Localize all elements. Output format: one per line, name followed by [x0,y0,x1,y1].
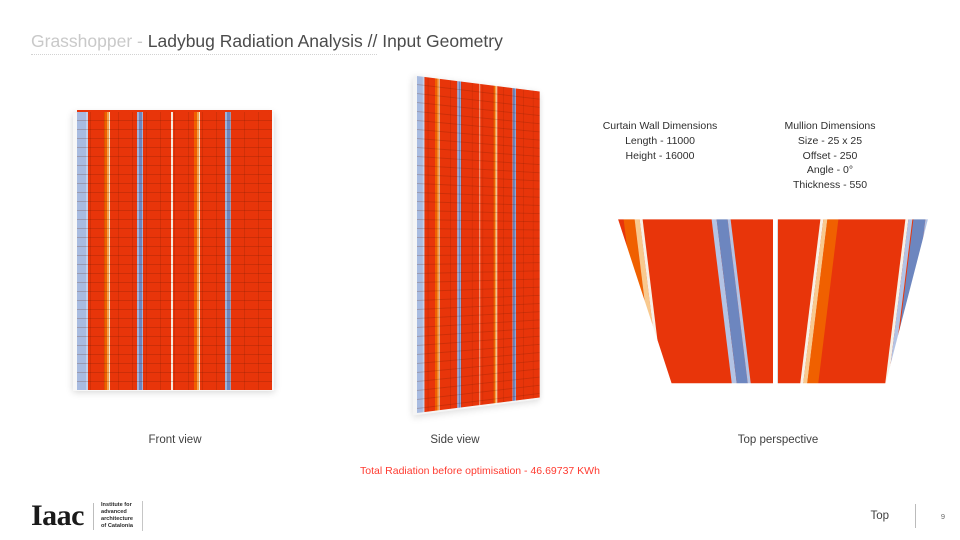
side-stripe-4 [439,79,440,410]
front-stripe-7 [142,112,143,390]
front-view-caption: Front view [105,434,245,446]
page-title-prefix: Grasshopper [31,31,132,51]
mullion-thickness: Thickness - 550 [762,178,898,193]
top-left-stripe-0 [612,214,620,394]
page-number: 9 [938,512,948,521]
page-title: Grasshopper - Ladybug Radiation Analysis… [31,30,731,52]
front-view-radiation-panel [77,112,272,390]
front-stripe-8 [171,112,173,390]
front-stripe-4 [109,112,110,390]
top-perspective-left-surface [612,214,773,394]
total-radiation-note: Total Radiation before optimisation - 46… [0,465,960,477]
top-perspective-clip [612,214,934,394]
mullion-offset: Offset - 250 [762,149,898,164]
side-stripe-11 [496,86,497,403]
top-perspective-center-seam [773,214,777,394]
curtain-wall-heading: Curtain Wall Dimensions [592,119,728,134]
footer-view-label: Top [870,510,889,522]
iaac-logo: Iaac Institute for advanced architecture… [31,499,143,533]
logo-tail-divider [142,501,143,531]
front-stripe-0 [77,112,86,390]
slide-footer-right: Top 9 [870,503,948,529]
page-title-separator: - [137,31,143,51]
side-view-perspective-container [417,76,540,413]
side-view-stripes [417,76,540,91]
top-perspective-right-wing [778,214,934,394]
front-stripe-1 [86,112,88,390]
iaac-logo-subtitle: Institute for advanced architecture of C… [101,502,133,529]
side-stripe-7 [461,81,462,407]
top-left-stripe-2 [632,214,663,394]
top-perspective-left-wing [612,214,773,394]
mullion-size: Size - 25 x 25 [762,134,898,149]
side-stripe-14 [515,88,516,400]
side-stripe-8 [479,84,480,405]
top-perspective-right-surface [778,214,934,394]
side-stripe-1 [423,77,424,412]
logo-divider [93,503,94,530]
mullion-heading: Mullion Dimensions [762,119,898,134]
curtain-wall-dimensions-block: Curtain Wall Dimensions Length - 11000 H… [592,119,728,163]
iaac-logo-wordmark: Iaac [31,501,84,531]
footer-divider [915,504,916,528]
mullion-dimensions-block: Mullion Dimensions Size - 25 x 25 Offset… [762,119,898,193]
side-view-radiation-panel [417,76,540,413]
mullion-angle: Angle - 0° [762,163,898,178]
side-view-caption: Side view [385,434,525,446]
curtain-wall-length: Length - 11000 [592,134,728,149]
top-perspective-caption: Top perspective [708,434,848,446]
page-title-main: Ladybug Radiation Analysis // Input Geom… [148,31,503,51]
front-stripe-14 [230,112,231,390]
front-stripe-11 [199,112,200,390]
curtain-wall-height: Height - 16000 [592,149,728,164]
title-underline-divider [31,54,377,56]
slide-header: Grasshopper - Ladybug Radiation Analysis… [31,30,731,60]
